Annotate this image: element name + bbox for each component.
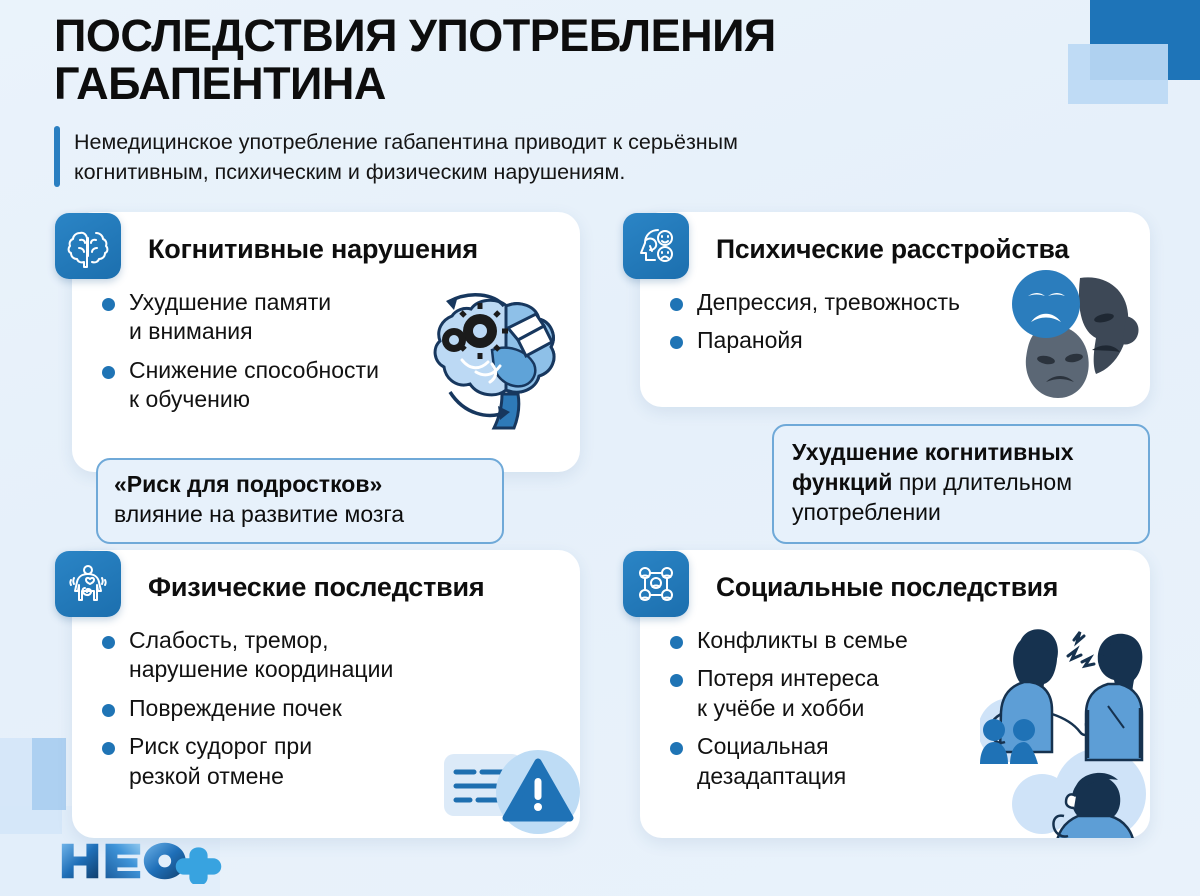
bullet-text: Риск судорог при резкой отмене	[129, 732, 312, 791]
bullet-dot-icon	[102, 742, 115, 755]
body-organs-icon	[55, 551, 121, 617]
card-mental-bullets: Депрессия, тревожность Паранойя	[640, 286, 1150, 356]
card-cognitive-header: Когнитивные нарушения	[72, 212, 580, 286]
bullet-text: Повреждение почек	[129, 694, 342, 723]
list-item: Снижение способности к обучению	[102, 356, 580, 415]
page-subtitle-block: Немедицинское употребление габапентина п…	[54, 126, 1064, 187]
callout-long-term-line1: Ухудшение когнитивных	[792, 438, 1132, 468]
brain-icon	[55, 213, 121, 279]
bullet-dot-icon	[102, 366, 115, 379]
bullet-dot-icon	[670, 636, 683, 649]
bullet-text: Потеря интереса к учёбе и хобби	[697, 664, 879, 723]
card-physical-bullets: Слабость, тремор, нарушение координации …	[72, 624, 580, 791]
card-physical: Физические последствия Слабость, тремор,…	[72, 550, 580, 838]
list-item: Депрессия, тревожность	[670, 288, 1150, 317]
decor-square-bottom-left-b	[32, 738, 66, 810]
page-title: ПОСЛЕДСТВИЯ УПОТРЕБЛЕНИЯ ГАБАПЕНТИНА	[54, 12, 1064, 108]
callout-long-term-line3: употреблении	[792, 498, 1132, 528]
bullet-text: Конфликты в семье	[697, 626, 908, 655]
page-header: ПОСЛЕДСТВИЯ УПОТРЕБЛЕНИЯ ГАБАПЕНТИНА Нем…	[54, 12, 1064, 187]
bullet-dot-icon	[670, 298, 683, 311]
card-social-bullets: Конфликты в семье Потеря интереса к учёб…	[640, 624, 1150, 791]
head-faces-icon	[623, 213, 689, 279]
page-subtitle: Немедицинское употребление габапентина п…	[74, 126, 738, 187]
list-item: Социальная дезадаптация	[670, 732, 1150, 791]
callout-long-term-line2-bold: функций	[792, 469, 892, 495]
bullet-dot-icon	[102, 636, 115, 649]
bullet-text: Ухудшение памяти и внимания	[129, 288, 331, 347]
decor-square-light-top-right	[1068, 44, 1168, 104]
list-item: Повреждение почек	[102, 694, 580, 723]
bullet-text: Социальная дезадаптация	[697, 732, 846, 791]
bullet-text: Слабость, тремор, нарушение координации	[129, 626, 393, 685]
list-item: Риск судорог при резкой отмене	[102, 732, 580, 791]
list-item: Конфликты в семье	[670, 626, 1150, 655]
bullet-dot-icon	[670, 674, 683, 687]
bullet-dot-icon	[670, 742, 683, 755]
card-social-header: Социальные последствия	[640, 550, 1150, 624]
network-people-icon	[623, 551, 689, 617]
card-cognitive: Когнитивные нарушения Ухудшение памяти и…	[72, 212, 580, 472]
card-social-title: Социальные последствия	[716, 572, 1058, 603]
list-item: Паранойя	[670, 326, 1150, 355]
card-cognitive-bullets: Ухудшение памяти и внимания Снижение спо…	[72, 286, 580, 415]
subtitle-accent-bar	[54, 126, 60, 187]
callout-teen-risk-title: «Риск для подростков»	[114, 470, 486, 500]
callout-long-term-line2-rest: при длительном	[892, 469, 1072, 495]
brand-logo-neo-plus	[60, 838, 224, 884]
bullet-dot-icon	[102, 704, 115, 717]
card-physical-header: Физические последствия	[72, 550, 580, 624]
bullet-text: Снижение способности к обучению	[129, 356, 379, 415]
card-social: Социальные последствия Конфликты в семье…	[640, 550, 1150, 838]
bullet-dot-icon	[670, 336, 683, 349]
bullet-text: Депрессия, тревожность	[697, 288, 960, 317]
card-mental-header: Психические расстройства	[640, 212, 1150, 286]
list-item: Потеря интереса к учёбе и хобби	[670, 664, 1150, 723]
bullet-dot-icon	[102, 298, 115, 311]
card-mental: Психические расстройства Депрессия, трев…	[640, 212, 1150, 407]
card-mental-title: Психические расстройства	[716, 234, 1069, 265]
bullet-text: Паранойя	[697, 326, 803, 355]
callout-teen-risk-text: влияние на развитие мозга	[114, 500, 486, 530]
list-item: Слабость, тремор, нарушение координации	[102, 626, 580, 685]
list-item: Ухудшение памяти и внимания	[102, 288, 580, 347]
callout-long-term-line2: функций при длительном	[792, 468, 1132, 498]
card-physical-title: Физические последствия	[148, 572, 485, 603]
card-cognitive-title: Когнитивные нарушения	[148, 234, 478, 265]
callout-long-term: Ухудшение когнитивных функций при длител…	[772, 424, 1150, 544]
callout-teen-risk: «Риск для подростков» влияние на развити…	[96, 458, 504, 544]
